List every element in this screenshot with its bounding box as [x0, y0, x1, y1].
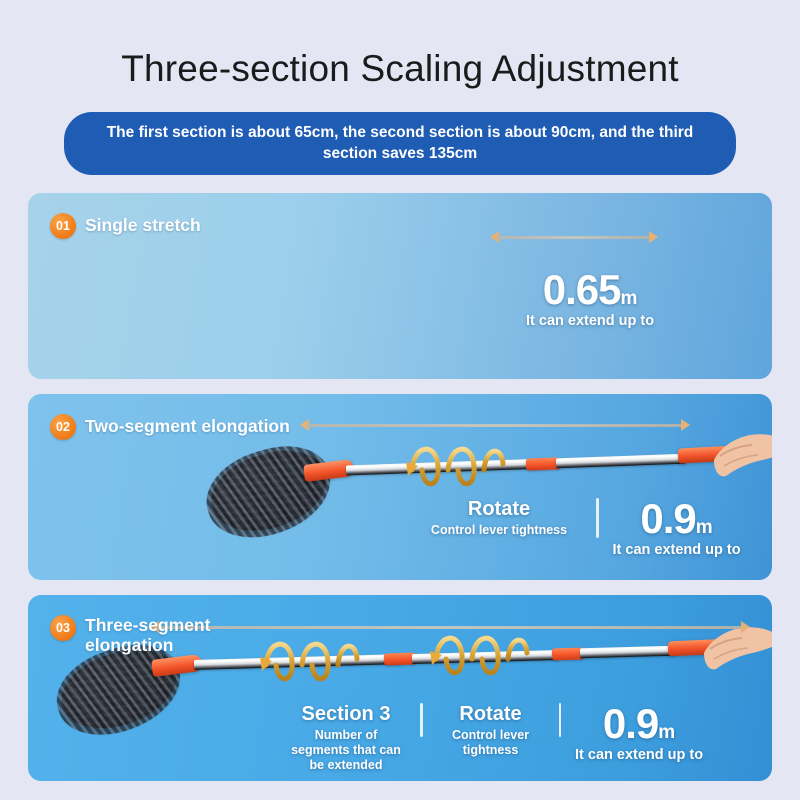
metric-label: Rotate: [437, 703, 545, 726]
panel-single-stretch: 01 Single stretch: [28, 193, 772, 379]
metric-value-row: 0.9m: [575, 703, 703, 745]
metric-divider: [559, 703, 562, 737]
metric-extend-length: 0.65m It can extend up to: [526, 269, 654, 329]
metric-value: 0.9: [640, 495, 695, 542]
rotation-spiral-icon: [256, 631, 366, 693]
mop-pole-icon: [556, 454, 686, 469]
metric-value-row: 0.9m: [613, 498, 741, 540]
metric-value: 0.65: [543, 266, 621, 313]
panel-3-badge: 03: [50, 615, 76, 641]
metric-extend-length: 0.9m It can extend up to: [613, 498, 741, 558]
metric-rotate: Rotate Control lever tightness: [437, 703, 545, 758]
mop-pole-icon: [580, 646, 676, 659]
subtitle-banner: The first section is about 65cm, the sec…: [64, 112, 736, 175]
panel-2-metrics: Rotate Control lever tightness 0.9m It c…: [416, 498, 741, 558]
metric-section-count: Section 3 Number of segments that can be…: [286, 703, 406, 773]
panel-2-heading: Two-segment elongation: [85, 414, 290, 436]
metric-caption: It can extend up to: [613, 542, 741, 558]
hand-icon: [700, 426, 772, 496]
page-title: Three-section Scaling Adjustment: [0, 0, 800, 90]
span-arrow-1: [490, 231, 658, 243]
panel-2-badge: 02: [50, 414, 76, 440]
panel-3-heading: Three-segment elongation: [85, 615, 235, 655]
panel-two-segment: 02 Two-segment elongation: [28, 394, 772, 580]
rotation-spiral-icon: [402, 436, 512, 498]
metric-caption: Control lever tightness: [437, 728, 545, 758]
arrow-head-right-icon: [741, 621, 750, 633]
metric-rotate: Rotate Control lever tightness: [416, 498, 582, 538]
panel-list: 01 Single stretch: [0, 193, 800, 781]
metric-unit: m: [658, 722, 675, 743]
metric-caption: Control lever tightness: [416, 523, 582, 538]
arrow-head-right-icon: [681, 419, 690, 431]
metric-caption: It can extend up to: [526, 313, 654, 329]
metric-value: 0.9: [603, 700, 658, 747]
metric-divider: [420, 703, 423, 737]
metric-unit: m: [620, 288, 637, 309]
panel-3-metrics: Section 3 Number of segments that can be…: [286, 703, 703, 773]
arrow-head-right-icon: [649, 231, 658, 243]
panel-2-head: 02 Two-segment elongation: [50, 414, 290, 440]
metric-caption: It can extend up to: [575, 747, 703, 763]
arrow-bar: [497, 236, 651, 239]
panel-3-head: 03 Three-segment elongation: [50, 615, 235, 655]
panel-1-badge: 01: [50, 213, 76, 239]
metric-unit: m: [696, 517, 713, 538]
metric-divider: [596, 498, 599, 538]
metric-label: Rotate: [416, 498, 582, 521]
panel-1-head: 01 Single stretch: [50, 213, 201, 239]
mop-head-icon: [202, 439, 336, 543]
metric-value-row: 0.65m: [526, 269, 654, 311]
span-arrow-2: [300, 419, 690, 431]
panel-1-heading: Single stretch: [85, 213, 201, 235]
panel-1-metrics: 0.65m It can extend up to: [526, 269, 654, 329]
metric-extend-length: 0.9m It can extend up to: [575, 703, 703, 763]
arrow-bar: [307, 424, 683, 427]
metric-label: Section 3: [286, 703, 406, 726]
metric-caption: Number of segments that can be extended: [286, 728, 406, 773]
rotation-spiral-icon: [426, 625, 536, 687]
panel-three-segment: 03 Three-segment elongation: [28, 595, 772, 781]
